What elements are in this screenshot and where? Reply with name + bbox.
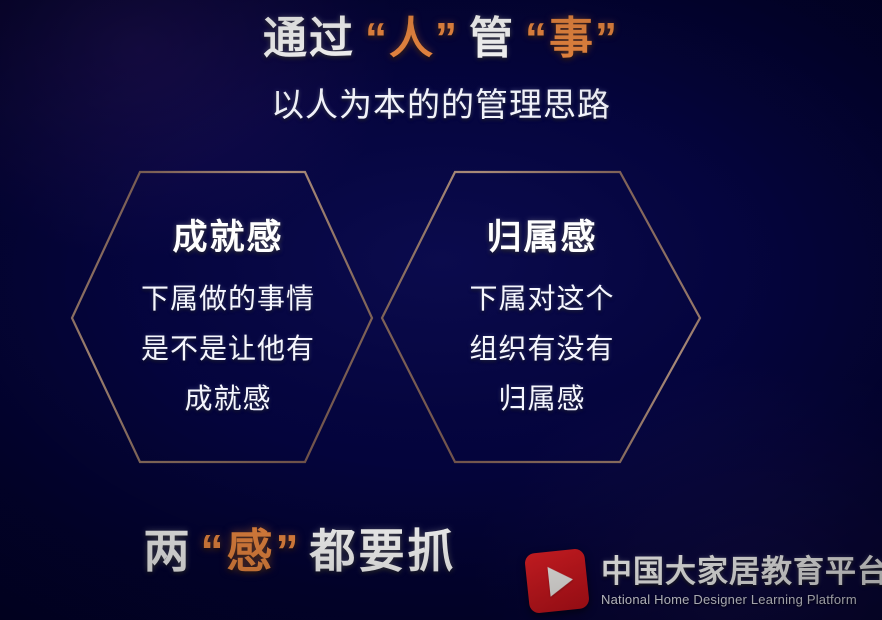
title-quote-close-2: ” <box>595 14 619 63</box>
brand-logo-text: 中国大家居教育平台 National Home Designer Learnin… <box>601 556 882 606</box>
hexagon-right-line-1: 下属对这个 <box>392 274 692 324</box>
hexagon-left-line-1: 下属做的事情 <box>78 274 378 324</box>
hexagon-right-line-2: 组织有没有 <box>392 324 692 374</box>
slogan-part-1: 两 <box>144 525 193 577</box>
hexagon-right-line-3: 归属感 <box>392 374 692 424</box>
title-quote-open-2: “ <box>525 14 549 63</box>
slogan-accent-gan: 感 <box>227 525 276 577</box>
slogan-quote-close: ” <box>276 525 302 577</box>
play-button-icon <box>524 548 590 614</box>
hexagon-left-heading: 成就感 <box>78 216 378 260</box>
title-quote-open-1: “ <box>365 14 389 63</box>
brand-logo: 中国大家居教育平台 National Home Designer Learnin… <box>527 551 882 611</box>
play-triangle-icon <box>547 564 574 596</box>
slide-title: 通过“人”管“事” <box>0 2 882 66</box>
hexagon-right-content: 归属感 下属对这个 组织有没有 归属感 <box>392 216 692 424</box>
brand-name-en: National Home Designer Learning Platform <box>601 593 882 606</box>
title-quote-close-1: ” <box>435 14 459 63</box>
slide-slogan: 两“感”都要抓 <box>0 515 600 581</box>
title-part-1: 通过 <box>263 14 355 63</box>
slogan-part-2: 都要抓 <box>310 525 457 577</box>
slogan-quote-open: “ <box>201 525 227 577</box>
slide-subtitle: 以人为本的的管理思路 <box>0 78 882 126</box>
title-part-2: 管 <box>469 14 515 63</box>
hexagon-left-content: 成就感 下属做的事情 是不是让他有 成就感 <box>78 216 378 424</box>
hexagon-right-heading: 归属感 <box>392 216 692 260</box>
title-accent-ren: 人 <box>389 14 435 63</box>
title-accent-shi: 事 <box>549 14 595 63</box>
brand-name-cn: 中国大家居教育平台 <box>601 556 882 587</box>
hexagon-left-line-3: 成就感 <box>78 374 378 424</box>
hexagon-left-line-2: 是不是让他有 <box>78 324 378 374</box>
presentation-slide: 通过“人”管“事” 以人为本的的管理思路 成就感 <box>0 0 882 620</box>
